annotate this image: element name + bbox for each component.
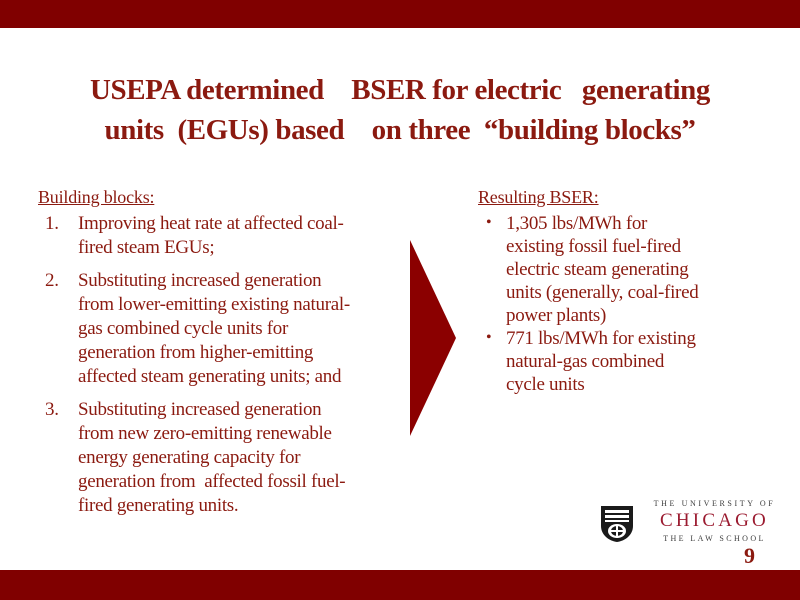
- university-logo: THE UNIVERSITY OF CHICAGO THE LAW SCHOOL: [600, 497, 785, 555]
- bulleted-list-item: • 771 lbs/MWh for existing natural-gas c…: [478, 327, 778, 396]
- logo-line-the-law-school: THE LAW SCHOOL: [642, 532, 787, 545]
- slide-title-line-2: units (EGUs) based on three “building bl…: [30, 110, 770, 150]
- left-content-column: Building blocks: 1. Improving heat rate …: [38, 186, 398, 527]
- list-item-line: existing fossil fuel-fired: [506, 235, 778, 258]
- list-item-line: affected steam generating units; and: [78, 365, 398, 389]
- list-item-line: electric steam generating: [506, 258, 778, 281]
- list-item-line: from new zero-emitting renewable: [78, 422, 398, 446]
- list-marker: 2.: [45, 269, 59, 293]
- numbered-list-item: 2. Substituting increased generation fro…: [38, 269, 398, 389]
- right-column-heading: Resulting BSER:: [478, 186, 778, 209]
- slide-canvas: USEPA determined BSER for electric gener…: [0, 0, 800, 600]
- bullet-marker: •: [486, 326, 491, 349]
- list-item-line: fired steam EGUs;: [78, 236, 398, 260]
- list-item-line: 1,305 lbs/MWh for: [506, 212, 778, 235]
- logo-line-chicago: CHICAGO: [642, 510, 787, 532]
- numbered-list-item: 3. Substituting increased generation fro…: [38, 398, 398, 518]
- list-marker: 3.: [45, 398, 59, 422]
- bulleted-list-item: • 1,305 lbs/MWh for existing fossil fuel…: [478, 212, 778, 327]
- list-item-line: gas combined cycle units for: [78, 317, 398, 341]
- top-accent-bar: [0, 0, 800, 28]
- list-marker: 1.: [45, 212, 59, 236]
- list-item-line: from lower-emitting existing natural-: [78, 293, 398, 317]
- list-item-line: cycle units: [506, 373, 778, 396]
- logo-line-the-university-of: THE UNIVERSITY OF: [642, 497, 787, 510]
- list-item-line: generation from higher-emitting: [78, 341, 398, 365]
- bullet-marker: •: [486, 211, 491, 234]
- list-item-line: fired generating units.: [78, 494, 398, 518]
- right-content-column: Resulting BSER: • 1,305 lbs/MWh for exis…: [478, 186, 778, 396]
- list-item-line: units (generally, coal-fired: [506, 281, 778, 304]
- list-item-line: Improving heat rate at affected coal-: [78, 212, 398, 236]
- crest-shield-icon: [600, 505, 634, 543]
- list-item-line: energy generating capacity for: [78, 446, 398, 470]
- list-item-line: natural-gas combined: [506, 350, 778, 373]
- right-arrow-icon: [410, 240, 456, 436]
- logo-wordmark: THE UNIVERSITY OF CHICAGO THE LAW SCHOOL: [642, 497, 787, 545]
- page-number: 9: [744, 543, 755, 569]
- list-item-line: power plants): [506, 304, 778, 327]
- left-column-heading: Building blocks:: [38, 186, 398, 209]
- list-item-line: generation from affected fossil fuel-: [78, 470, 398, 494]
- list-item-line: Substituting increased generation: [78, 398, 398, 422]
- list-item-line: Substituting increased generation: [78, 269, 398, 293]
- list-item-line: 771 lbs/MWh for existing: [506, 327, 778, 350]
- numbered-list-item: 1. Improving heat rate at affected coal-…: [38, 212, 398, 260]
- slide-title: USEPA determined BSER for electric gener…: [30, 70, 770, 150]
- slide-title-line-1: USEPA determined BSER for electric gener…: [30, 70, 770, 110]
- bottom-accent-bar: [0, 570, 800, 600]
